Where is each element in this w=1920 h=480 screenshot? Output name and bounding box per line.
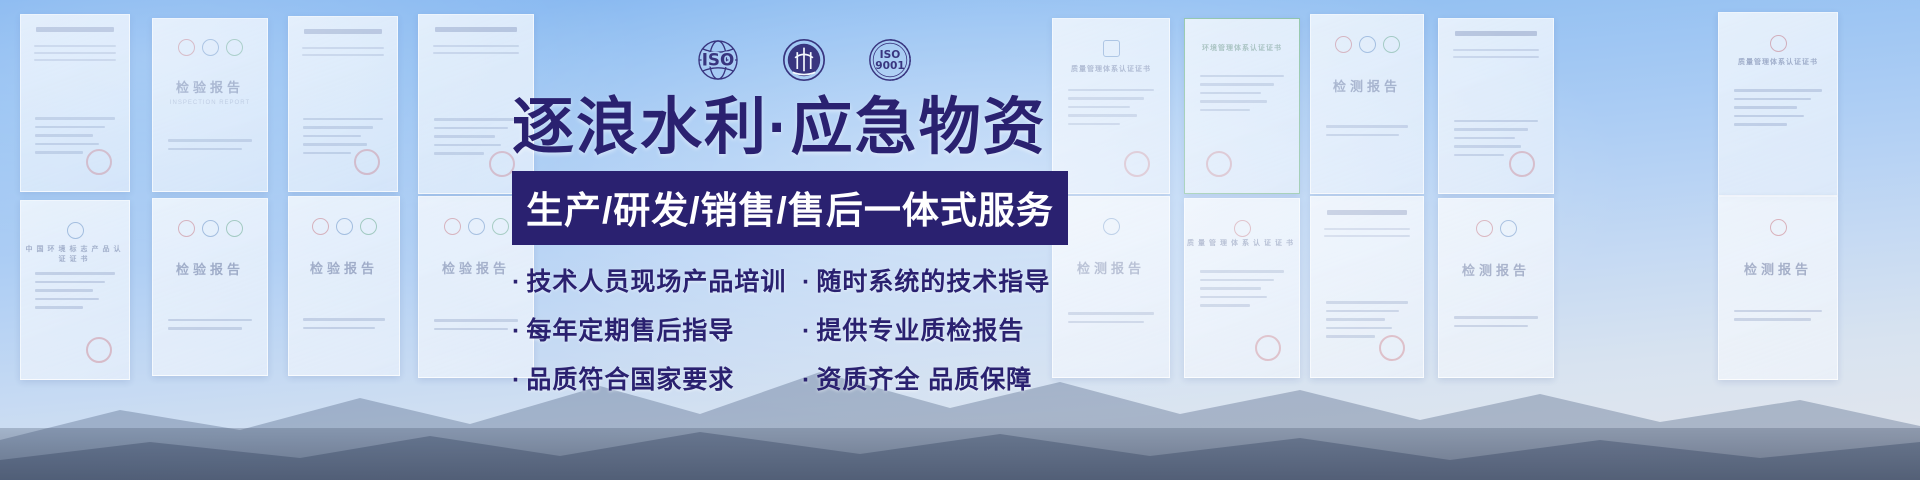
- feature-item: ·提供专业质检报告: [802, 311, 1024, 347]
- certificate-title: 检验报告: [289, 258, 399, 277]
- promo-banner: 检验报告 INSPECTION REPORT 质量管理体系认证证书 环境管理体系…: [0, 0, 1920, 480]
- treeline: [0, 428, 1920, 480]
- iso-9001-badge: ISO 9001: [862, 32, 918, 88]
- feature-text: 每年定期售后指导: [526, 317, 734, 345]
- feature-item: ·品质符合国家要求: [512, 360, 802, 396]
- certificate-title: 环境管理体系认证证书: [1185, 43, 1299, 53]
- bullet-icon: ·: [512, 366, 521, 394]
- certificate-title: 质量管理体系认证证书: [1719, 57, 1837, 67]
- certificate-card: 检验报告 INSPECTION REPORT: [152, 18, 268, 192]
- certificate-title: 检验报告: [153, 259, 267, 278]
- feature-text: 资质齐全 品质保障: [816, 366, 1032, 394]
- feature-item: ·随时系统的技术指导: [802, 262, 1050, 298]
- feature-text: 提供专业质检报告: [816, 317, 1024, 345]
- feature-row: ·技术人员现场产品培训 ·随时系统的技术指导: [512, 262, 1072, 298]
- bullet-icon: ·: [512, 317, 521, 345]
- certificate-card: 质量管理体系认证证书: [1718, 12, 1838, 196]
- feature-item: ·技术人员现场产品培训: [512, 262, 802, 298]
- bullet-icon: ·: [802, 317, 811, 345]
- certificate-card: [1438, 18, 1554, 194]
- banner-content: 逐浪水利·应急物资 生产/研发/销售/售后一体式服务 ·技术人员现场产品培训 ·…: [512, 96, 1072, 409]
- svg-text:9001: 9001: [875, 59, 905, 72]
- iso-globe-badge: ISO: [690, 32, 746, 88]
- certificate-card: [20, 14, 130, 192]
- quality-seal-badge: [776, 32, 832, 88]
- feature-list: ·技术人员现场产品培训 ·随时系统的技术指导 ·每年定期售后指导 ·提供专业质检…: [512, 262, 1072, 396]
- bullet-icon: ·: [512, 268, 521, 296]
- certificate-title: 检测报告: [1439, 260, 1553, 279]
- certification-badges: ISO ISO 9001: [690, 32, 918, 88]
- banner-subtitle-bar: 生产/研发/销售/售后一体式服务: [512, 171, 1068, 245]
- banner-headline: 逐浪水利·应急物资: [512, 96, 1072, 159]
- certificate-title: 检测报告: [1719, 259, 1837, 278]
- certificate-title: 检测报告: [1311, 76, 1423, 95]
- feature-row: ·品质符合国家要求 ·资质齐全 品质保障: [512, 360, 1072, 396]
- feature-item: ·每年定期售后指导: [512, 311, 802, 347]
- certificate-title: 检验报告: [153, 77, 267, 96]
- svg-text:ISO: ISO: [702, 50, 735, 70]
- feature-text: 随时系统的技术指导: [816, 268, 1050, 296]
- bullet-icon: ·: [802, 268, 811, 296]
- certificate-card: [288, 16, 398, 192]
- certificate-title: 质量管理体系认证证书: [1053, 64, 1169, 74]
- feature-text: 品质符合国家要求: [526, 366, 734, 394]
- feature-row: ·每年定期售后指导 ·提供专业质检报告: [512, 311, 1072, 347]
- feature-item: ·资质齐全 品质保障: [802, 360, 1032, 396]
- bullet-icon: ·: [802, 366, 811, 394]
- certificate-card: 检测报告: [1310, 14, 1424, 194]
- feature-text: 技术人员现场产品培训: [526, 268, 786, 296]
- certificate-card: 环境管理体系认证证书: [1184, 18, 1300, 194]
